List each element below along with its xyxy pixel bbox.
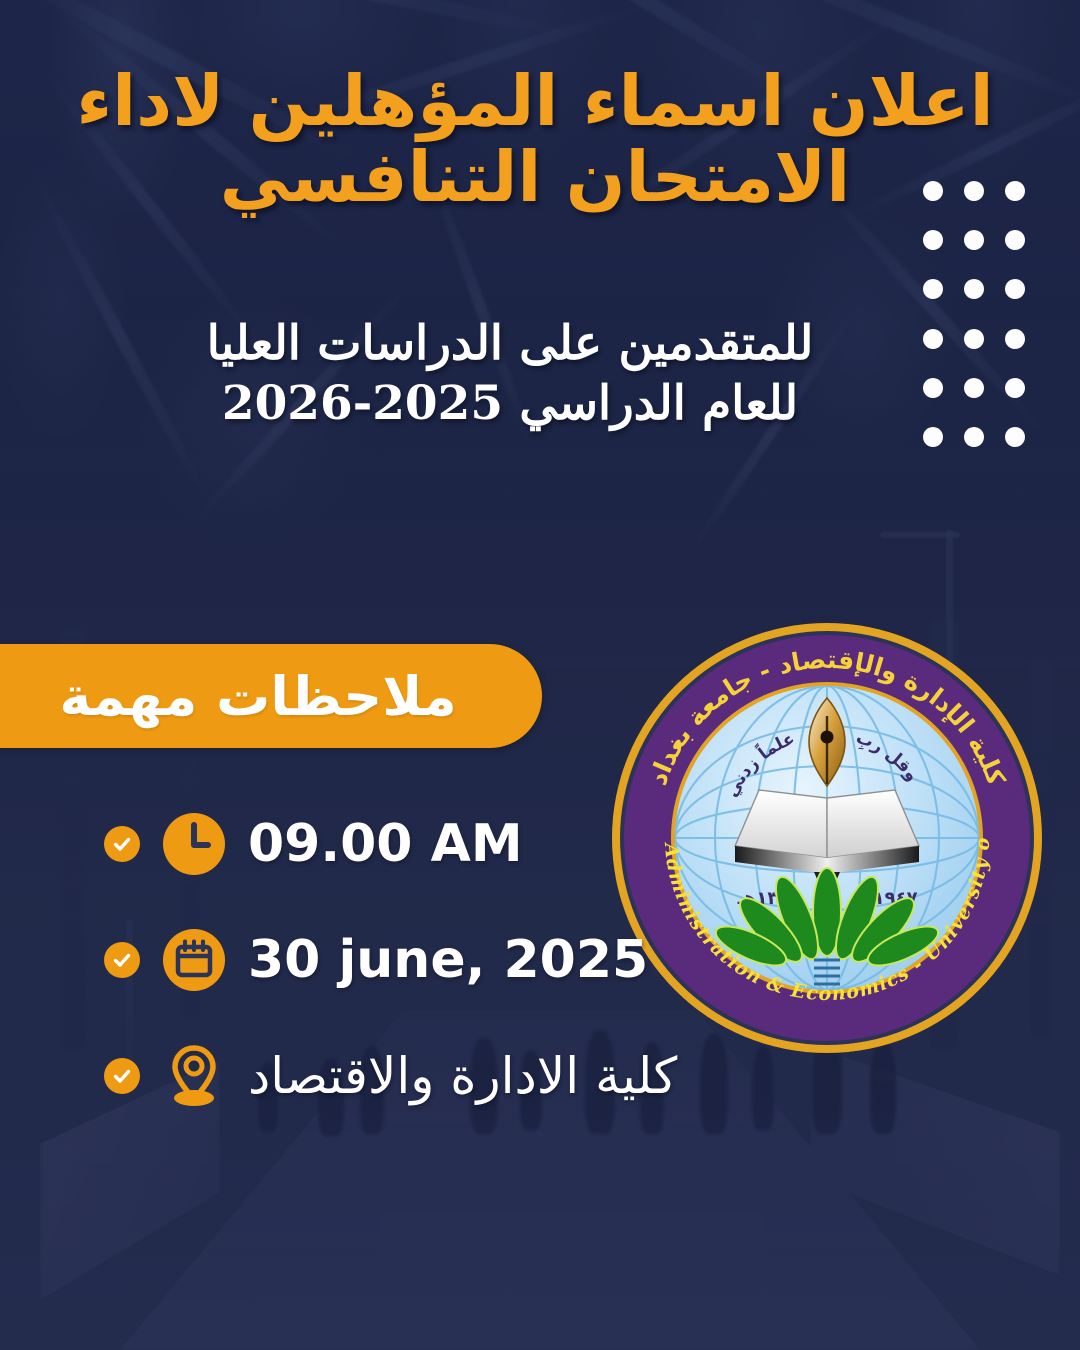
subheadline-block: للمتقدمين على الدراسات العليا للعام الدر… (60, 314, 960, 434)
grid-dot (1005, 427, 1025, 447)
info-list: 09.00 AM 30 june, 2025 (104, 786, 744, 1134)
subheadline-line-2: للعام الدراسي 2025-2026 (60, 374, 960, 434)
grid-dot (1005, 279, 1025, 299)
grid-dot (964, 329, 984, 349)
grid-dot (964, 378, 984, 398)
info-row-time: 09.00 AM (104, 786, 744, 902)
info-label-location: كلية الادارة والاقتصاد (248, 1047, 677, 1105)
grid-dot (964, 427, 984, 447)
grid-dot (923, 279, 943, 299)
info-label-date: 30 june, 2025 (248, 930, 648, 990)
clock-icon (158, 808, 230, 880)
info-label-time: 09.00 AM (248, 814, 523, 874)
calendar-icon (158, 924, 230, 996)
grid-dot (923, 230, 943, 250)
poster-canvas: اعلان اسماء المؤهلين لاداء الامتحان التن… (0, 0, 1080, 1350)
grid-dot (1005, 329, 1025, 349)
grid-dot (1005, 230, 1025, 250)
check-circle-icon (104, 942, 140, 978)
location-pin-icon (158, 1040, 230, 1112)
grid-dot (964, 230, 984, 250)
info-row-date: 30 june, 2025 (104, 902, 744, 1018)
info-row-location: كلية الادارة والاقتصاد (104, 1018, 744, 1134)
important-notes-label: ملاحظات مهمة (59, 665, 482, 728)
grid-dot (1005, 378, 1025, 398)
check-circle-icon (104, 1058, 140, 1094)
headline-line-1: اعلان اسماء المؤهلين لاداء (60, 62, 1010, 140)
headline-block: اعلان اسماء المؤهلين لاداء الامتحان التن… (60, 62, 1010, 217)
grid-dot (964, 279, 984, 299)
subheadline-line-1: للمتقدمين على الدراسات العليا (60, 314, 960, 374)
check-circle-icon (104, 826, 140, 862)
important-notes-badge: ملاحظات مهمة (0, 644, 542, 748)
headline-line-2: الامتحان التنافسي (60, 138, 1010, 216)
